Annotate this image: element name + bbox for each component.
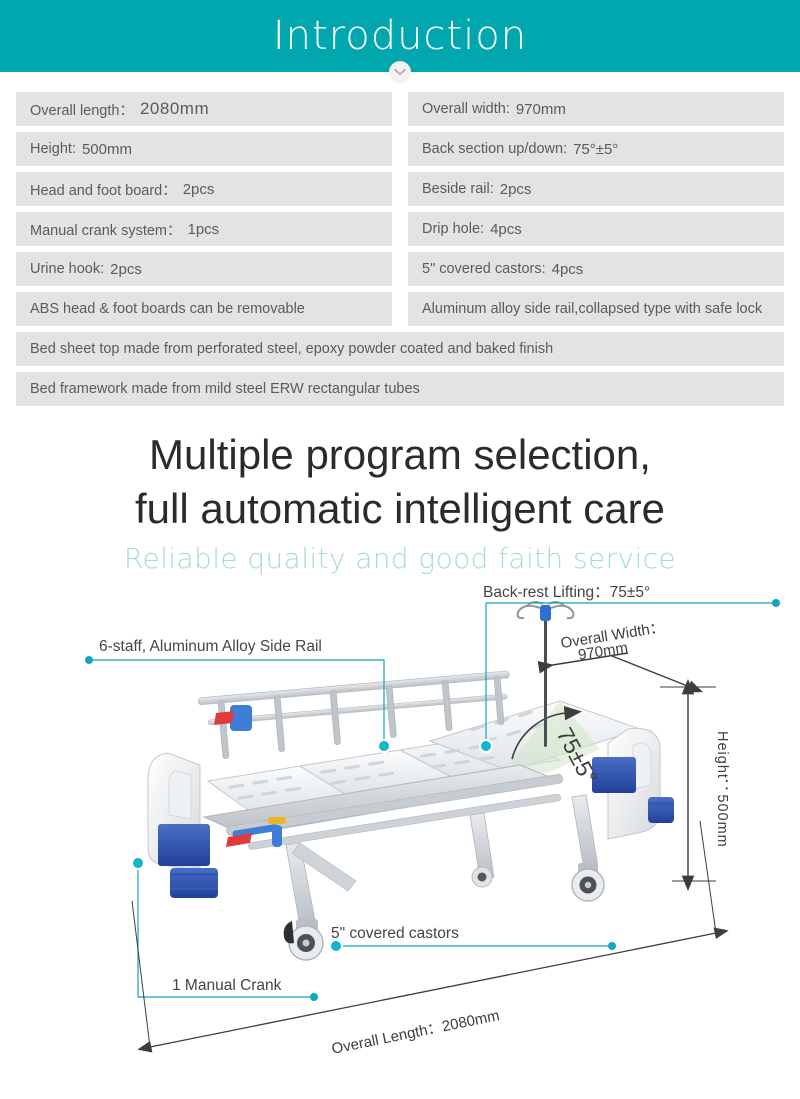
spec-value: 2pcs xyxy=(110,261,142,278)
spec-value: 2080mm xyxy=(140,99,209,119)
spec-label: Back section up/down: xyxy=(422,141,567,157)
spec-label: ABS head & foot boards can be removable xyxy=(30,301,305,317)
callout-manual-crank: 1 Manual Crank xyxy=(172,977,281,995)
spec-aluminum-side-rail: Aluminum alloy side rail,collapsed type … xyxy=(408,292,784,326)
callout-side-rail: 6-staff, Aluminum Alloy Side Rail xyxy=(99,638,322,656)
spec-height: Height: 500mm xyxy=(16,132,392,166)
headline-block: Multiple program selection, full automat… xyxy=(0,428,800,575)
dimension-label-height: Height：500mm xyxy=(712,731,733,848)
spec-label: Aluminum alloy side rail,collapsed type … xyxy=(422,301,762,317)
spec-bed-sheet-top: Bed sheet top made from perforated steel… xyxy=(16,332,784,366)
spec-value: 2pcs xyxy=(500,181,532,198)
headline-subtitle: Reliable quality and good faith service xyxy=(0,542,800,575)
bed-headboard xyxy=(148,753,218,898)
table-row: Height: 500mm Back section up/down: 75°±… xyxy=(16,132,784,166)
spec-label: Head and foot board： xyxy=(30,179,177,200)
table-row: Bed framework made from mild steel ERW r… xyxy=(16,372,784,406)
figure-graphics: 75±5° xyxy=(0,581,800,1091)
spec-label: Height: xyxy=(30,141,76,157)
spec-label: 5" covered castors: xyxy=(422,261,546,277)
spec-abs-boards: ABS head & foot boards can be removable xyxy=(16,292,392,326)
page-title: Introduction xyxy=(273,16,527,56)
spec-label: Bed framework made from mild steel ERW r… xyxy=(30,381,420,397)
anchor-dot-manual-crank xyxy=(310,993,318,1001)
callout-castors: 5" covered castors xyxy=(331,925,459,943)
spec-label: Bed sheet top made from perforated steel… xyxy=(30,341,553,357)
spec-value: 1pcs xyxy=(188,221,220,238)
spec-overall-width: Overall width: 970mm xyxy=(408,92,784,126)
spec-value: 75°±5° xyxy=(573,141,618,158)
spec-back-section: Back section up/down: 75°±5° xyxy=(408,132,784,166)
table-row: Head and foot board： 2pcs Beside rail: 2… xyxy=(16,172,784,206)
spec-bed-framework: Bed framework made from mild steel ERW r… xyxy=(16,372,784,406)
table-row: Bed sheet top made from perforated steel… xyxy=(16,332,784,366)
table-row: Urine hook: 2pcs 5" covered castors: 4pc… xyxy=(16,252,784,286)
headline-line-2: full automatic intelligent care xyxy=(0,482,800,536)
page-header: Introduction xyxy=(0,0,800,72)
spec-label: Urine hook: xyxy=(30,261,104,277)
spec-beside-rail: Beside rail: 2pcs xyxy=(408,172,784,206)
spec-label: Overall length： xyxy=(30,99,134,120)
spec-value: 4pcs xyxy=(552,261,584,278)
spec-value: 500mm xyxy=(82,141,132,158)
table-row: Overall length： 2080mm Overall width: 97… xyxy=(16,92,784,126)
spec-head-foot-board: Head and foot board： 2pcs xyxy=(16,172,392,206)
product-figure: 75±5° 6-staff, Aluminum Alloy Side Rail … xyxy=(0,581,800,1091)
spec-label: Manual crank system： xyxy=(30,219,182,240)
spec-value: 4pcs xyxy=(490,221,522,238)
anchor-dot-side-rail xyxy=(85,656,93,664)
chevron-down-icon[interactable] xyxy=(389,61,411,83)
table-row: ABS head & foot boards can be removable … xyxy=(16,292,784,326)
spec-value: 2pcs xyxy=(183,181,215,198)
spec-manual-crank-system: Manual crank system： 1pcs xyxy=(16,212,392,246)
spec-value: 970mm xyxy=(516,101,566,118)
table-row: Manual crank system： 1pcs Drip hole: 4pc… xyxy=(16,212,784,246)
anchor-dot-back-rest xyxy=(772,599,780,607)
spec-overall-length: Overall length： 2080mm xyxy=(16,92,392,126)
spec-covered-castors: 5" covered castors: 4pcs xyxy=(408,252,784,286)
spec-drip-hole: Drip hole: 4pcs xyxy=(408,212,784,246)
callout-back-rest: Back-rest Lifting：75±5° xyxy=(483,580,650,602)
spec-label: Drip hole: xyxy=(422,221,484,237)
headline-line-1: Multiple program selection, xyxy=(0,428,800,482)
specification-table: Overall length： 2080mm Overall width: 97… xyxy=(0,72,800,406)
bed-footboard xyxy=(592,728,674,839)
anchor-dot-castors xyxy=(608,942,616,950)
spec-label: Overall width: xyxy=(422,101,510,117)
spec-label: Beside rail: xyxy=(422,181,494,197)
spec-urine-hook: Urine hook: 2pcs xyxy=(16,252,392,286)
